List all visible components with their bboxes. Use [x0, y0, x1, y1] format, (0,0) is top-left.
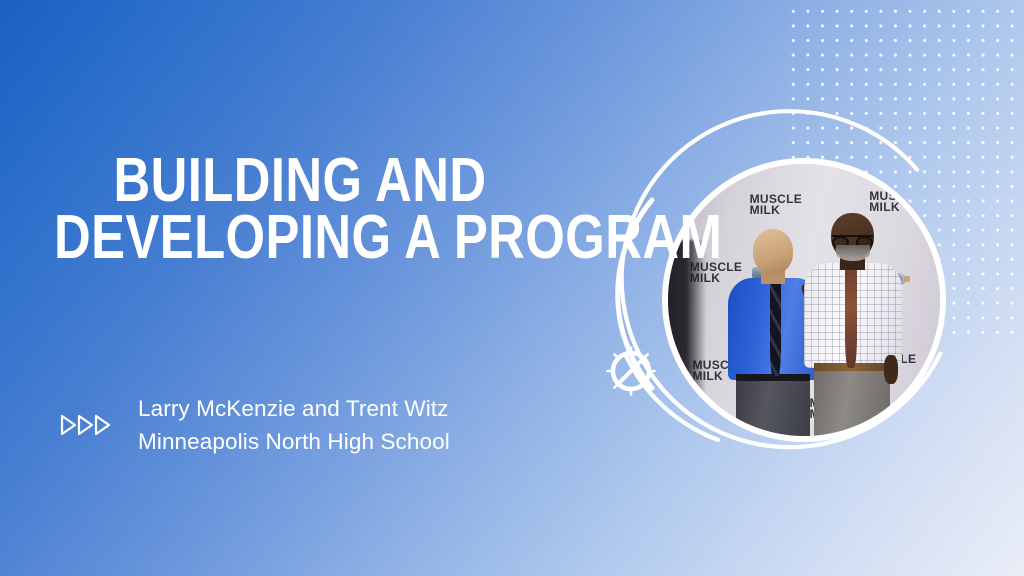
eyeglasses [832, 235, 872, 245]
page-title: BUILDING AND DEVELOPING A PROGRAM [54, 152, 546, 266]
subtitle: Larry McKenzie and Trent Witz Minneapoli… [138, 392, 450, 459]
backdrop-logo: MUSCLE MILK [750, 194, 802, 216]
backdrop-logo [684, 403, 710, 415]
subtitle-line-2: Minneapolis North High School [138, 425, 450, 458]
photo-cluster: MUSCLE MILK MUSCLE MILK MUSCLE MILK [590, 88, 990, 488]
triple-play-arrow-icon [60, 412, 116, 438]
basketball-badge-icon [604, 344, 658, 398]
subtitle-block: Larry McKenzie and Trent Witz Minneapoli… [60, 392, 580, 459]
milk-bottle-icon [684, 403, 710, 415]
title-line-2: DEVELOPING A PROGRAM [54, 209, 546, 266]
presentation-slide: MUSCLE MILK MUSCLE MILK MUSCLE MILK [0, 0, 1024, 576]
subtitle-line-1: Larry McKenzie and Trent Witz [138, 392, 450, 425]
title-line-1: BUILDING AND [54, 152, 546, 209]
person-right [804, 213, 902, 436]
backdrop-logo: MUSCLE MILK [869, 191, 921, 213]
